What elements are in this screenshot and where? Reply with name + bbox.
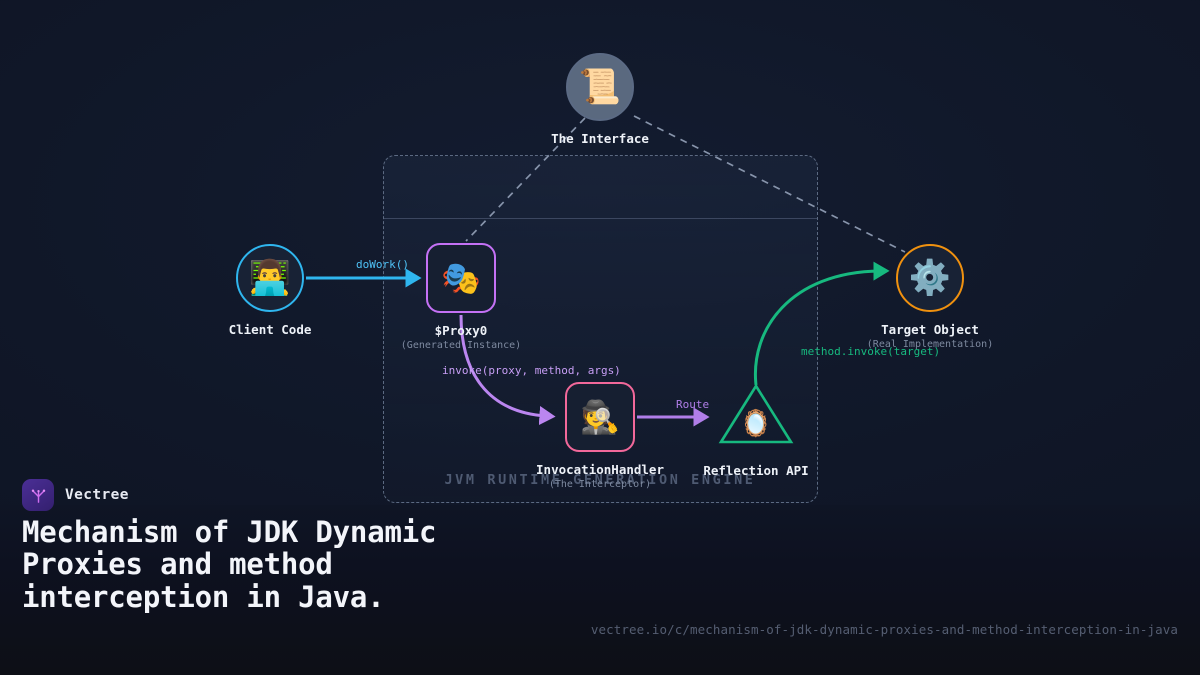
edge-label-invoke: invoke(proxy, method, args) (442, 364, 621, 377)
node-title: $Proxy0 (401, 323, 521, 338)
node-target-object[interactable]: ⚙️ Target Object (Real Implementation) (896, 244, 964, 312)
source-url: vectree.io/c/mechanism-of-jdk-dynamic-pr… (591, 622, 1178, 637)
gear-icon: ⚙️ (896, 244, 964, 312)
mirror-glyph: 🪞 (740, 409, 772, 439)
vectree-tree-glyph (29, 486, 48, 505)
person-at-laptop-icon: 👨‍💻 (236, 244, 304, 312)
node-caption: Client Code (229, 322, 312, 337)
node-caption: The Interface (551, 131, 649, 146)
edge-label-route: Route (676, 398, 709, 411)
node-proxy0[interactable]: 🎭 $Proxy0 (Generated Instance) (426, 243, 496, 313)
diagram-canvas: JVM RUNTIME GENERATION ENGINE 📜 The Inte… (0, 0, 1200, 510)
edge-interface-implements-target (634, 116, 905, 252)
node-caption: InvocationHandler (The Interceptor) (536, 462, 664, 490)
scroll-icon: 📜 (566, 53, 634, 121)
scroll-glyph: 📜 (579, 70, 621, 104)
vectree-logo-icon (22, 479, 54, 511)
node-caption: $Proxy0 (Generated Instance) (401, 323, 521, 351)
node-subtitle: (Generated Instance) (401, 340, 521, 351)
detective-icon: 🕵️ (565, 382, 635, 452)
node-subtitle: (The Interceptor) (536, 479, 664, 490)
edge-label-method-invoke: method.invoke(target) (801, 345, 940, 358)
edge-label-dowork: doWork() (356, 258, 409, 271)
node-title: The Interface (551, 131, 649, 146)
person-at-laptop-glyph: 👨‍💻 (249, 261, 291, 295)
node-invocation-handler[interactable]: 🕵️ InvocationHandler (The Interceptor) (565, 382, 635, 452)
node-title: Reflection API (703, 463, 808, 478)
brand-name: Vectree (65, 487, 129, 503)
theater-masks-glyph: 🎭 (441, 262, 481, 294)
node-title: Client Code (229, 322, 312, 337)
reflection-triangle: 🪞 (718, 383, 794, 445)
node-reflection-api[interactable]: 🪞 Reflection API (718, 383, 794, 445)
gear-glyph: ⚙️ (909, 261, 951, 295)
detective-glyph: 🕵️ (580, 401, 620, 433)
node-caption: Reflection API (703, 463, 808, 478)
edge-method-invoke (755, 271, 880, 385)
node-client-code[interactable]: 👨‍💻 Client Code (236, 244, 304, 312)
node-the-interface[interactable]: 📜 The Interface (566, 53, 634, 121)
brand[interactable]: Vectree (22, 479, 129, 511)
node-title: InvocationHandler (536, 462, 664, 477)
node-title: Target Object (867, 322, 993, 337)
theater-masks-icon: 🎭 (426, 243, 496, 313)
page-title: Mechanism of JDK Dynamic Proxies and met… (22, 516, 552, 613)
